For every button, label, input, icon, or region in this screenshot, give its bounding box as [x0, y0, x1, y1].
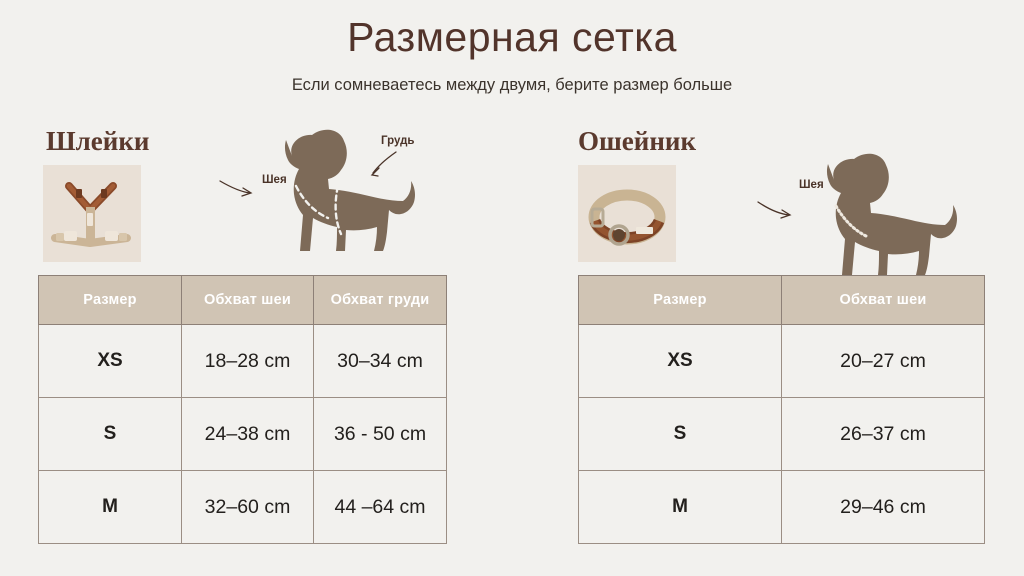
harness-size-table: Размер Обхват шеи Обхват груди XS 18–28 …	[38, 275, 447, 544]
cell-neck: 20–27 cm	[782, 325, 985, 398]
table-header-row: Размер Обхват шеи Обхват груди	[39, 276, 447, 325]
table-row: XS 20–27 cm	[579, 325, 985, 398]
column-header-neck: Обхват шеи	[182, 276, 314, 325]
section-heading-collar: Ошейник	[578, 126, 696, 157]
column-header-chest: Обхват груди	[314, 276, 447, 325]
cell-neck: 26–37 cm	[782, 398, 985, 471]
cell-size: XS	[39, 325, 182, 398]
cell-neck: 29–46 cm	[782, 471, 985, 544]
column-header-size: Размер	[39, 276, 182, 325]
dog-silhouette	[827, 154, 957, 275]
callout-neck-label-harness: Шея	[262, 174, 287, 186]
section-heading-harness: Шлейки	[46, 126, 149, 157]
page-title: Размерная сетка	[0, 14, 1024, 61]
callout-chest-label-harness: Грудь	[381, 135, 414, 147]
cell-size: M	[579, 471, 782, 544]
table-row: M 29–46 cm	[579, 471, 985, 544]
collar-product-photo	[578, 165, 676, 262]
table-header-row: Размер Обхват шеи	[579, 276, 985, 325]
dog-harness-diagram	[248, 126, 463, 266]
dog-silhouette	[285, 130, 415, 251]
page-subtitle: Если сомневаетесь между двумя, берите ра…	[0, 76, 1024, 95]
column-header-size: Размер	[579, 276, 782, 325]
cell-neck: 18–28 cm	[182, 325, 314, 398]
cell-neck: 32–60 cm	[182, 471, 314, 544]
collar-size-table: Размер Обхват шеи XS 20–27 cm S 26–37 cm…	[578, 275, 985, 544]
column-header-neck: Обхват шеи	[782, 276, 985, 325]
dog-collar-diagram	[790, 150, 1005, 272]
cell-chest: 30–34 cm	[314, 325, 447, 398]
cell-size: M	[39, 471, 182, 544]
callout-neck-label-collar: Шея	[799, 179, 824, 191]
neck-arrow	[220, 181, 250, 193]
neck-arrow	[758, 202, 789, 215]
table-row: S 26–37 cm	[579, 398, 985, 471]
cell-size: S	[579, 398, 782, 471]
cell-size: XS	[579, 325, 782, 398]
harness-product-photo	[43, 165, 141, 262]
cell-neck: 24–38 cm	[182, 398, 314, 471]
cell-size: S	[39, 398, 182, 471]
cell-chest: 44 –64 cm	[314, 471, 447, 544]
cell-chest: 36 - 50 cm	[314, 398, 447, 471]
size-chart-page: Размерная сетка Если сомневаетесь между …	[0, 0, 1024, 576]
table-row: M 32–60 cm 44 –64 cm	[39, 471, 447, 544]
table-row: XS 18–28 cm 30–34 cm	[39, 325, 447, 398]
table-row: S 24–38 cm 36 - 50 cm	[39, 398, 447, 471]
